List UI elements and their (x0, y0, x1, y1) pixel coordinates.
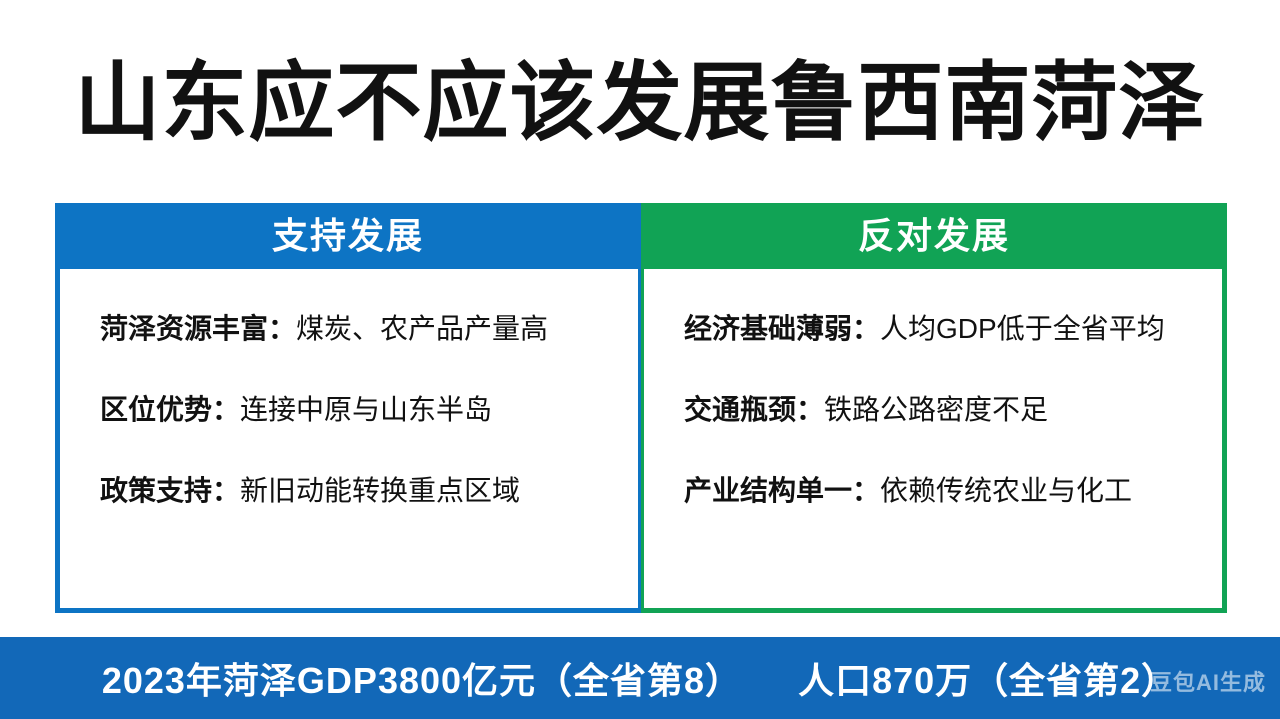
point-value: 煤炭、农产品产量高 (296, 313, 548, 344)
list-item: 政策支持：新旧动能转换重点区域 (100, 473, 616, 508)
stats-banner: 2023年菏泽GDP3800亿元（全省第8） 人口870万（全省第2） 豆包AI… (0, 637, 1280, 719)
point-value: 连接中原与山东半岛 (240, 394, 492, 425)
point-value: 新旧动能转换重点区域 (240, 475, 520, 506)
point-key: 政策支持： (100, 475, 240, 506)
column-header-oppose: 反对发展 (641, 203, 1227, 269)
column-support: 支持发展 菏泽资源丰富：煤炭、农产品产量高 区位优势：连接中原与山东半岛 政策支… (55, 203, 641, 613)
list-item: 经济基础薄弱：人均GDP低于全省平均 (684, 311, 1200, 346)
point-value: 铁路公路密度不足 (824, 394, 1048, 425)
slide-canvas: 山东应不应该发展鲁西南菏泽 支持发展 菏泽资源丰富：煤炭、农产品产量高 区位优势… (0, 0, 1280, 719)
comparison-table: 支持发展 菏泽资源丰富：煤炭、农产品产量高 区位优势：连接中原与山东半岛 政策支… (55, 203, 1227, 613)
list-item: 菏泽资源丰富：煤炭、农产品产量高 (100, 311, 616, 346)
list-item: 区位优势：连接中原与山东半岛 (100, 392, 616, 427)
list-item: 产业结构单一：依赖传统农业与化工 (684, 473, 1200, 508)
column-body-oppose: 经济基础薄弱：人均GDP低于全省平均 交通瓶颈：铁路公路密度不足 产业结构单一：… (641, 269, 1227, 613)
column-oppose: 反对发展 经济基础薄弱：人均GDP低于全省平均 交通瓶颈：铁路公路密度不足 产业… (641, 203, 1227, 613)
stat-gdp: 2023年菏泽GDP3800亿元（全省第8） (102, 652, 742, 704)
column-body-support: 菏泽资源丰富：煤炭、农产品产量高 区位优势：连接中原与山东半岛 政策支持：新旧动… (55, 269, 641, 613)
column-header-support: 支持发展 (55, 203, 641, 269)
point-key: 产业结构单一： (684, 475, 880, 506)
point-key: 经济基础薄弱： (684, 313, 880, 344)
point-value: 依赖传统农业与化工 (880, 475, 1132, 506)
page-title: 山东应不应该发展鲁西南菏泽 (0, 58, 1280, 148)
list-item: 交通瓶颈：铁路公路密度不足 (684, 392, 1200, 427)
point-value: 人均GDP低于全省平均 (880, 313, 1165, 344)
point-key: 交通瓶颈： (684, 394, 824, 425)
point-key: 区位优势： (100, 394, 240, 425)
stat-population: 人口870万（全省第2） (798, 652, 1178, 704)
point-key: 菏泽资源丰富： (100, 313, 296, 344)
